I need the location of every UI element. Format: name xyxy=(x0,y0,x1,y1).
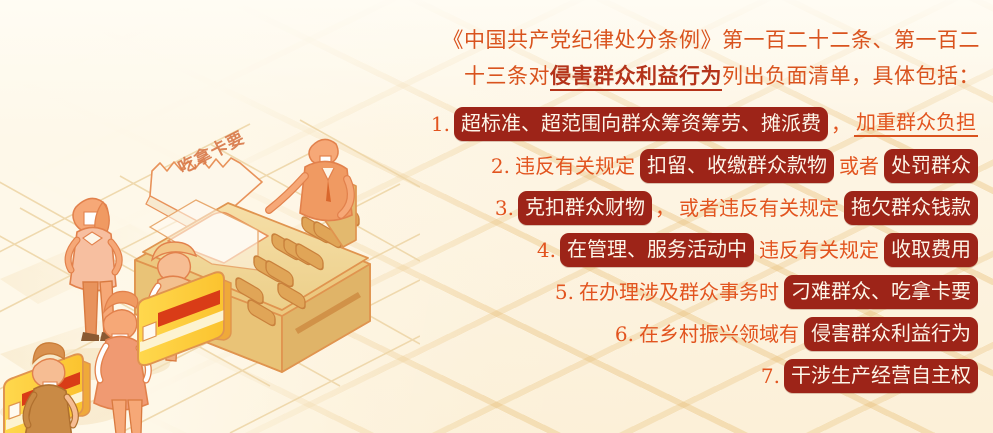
list-item-chip: 处罚群众 xyxy=(884,149,978,183)
list-item-text: 在办理涉及群众事务时 xyxy=(576,282,782,302)
list-item: 3. 克扣群众财物 ， 或者违反有关规定 拖欠群众钱款 xyxy=(400,187,980,229)
list-item-chip: 在管理、服务活动中 xyxy=(560,233,754,267)
list-item-chip: 刁难群众、吃拿卡要 xyxy=(784,275,978,309)
headline: 《中国共产党纪律处分条例》第一百二十二条、第一百二 十三条对侵害群众利益行为列出… xyxy=(400,22,980,94)
list-item-text: 或者 xyxy=(836,156,882,176)
violation-list: 1. 超标准、超范围向群众筹资筹劳、摊派费 ， 加重群众负担 2. 违反有关规定… xyxy=(400,103,980,397)
list-item-chip: 拖欠群众钱款 xyxy=(844,191,978,225)
list-item-index: 3. xyxy=(495,198,514,218)
list-item-index: 7. xyxy=(761,366,780,386)
list-item-index: 2. xyxy=(491,156,510,176)
list-item-index: 5. xyxy=(555,282,574,302)
list-item: 4. 在管理、服务活动中 违反有关规定 收取费用 xyxy=(400,229,980,271)
list-item-index: 4. xyxy=(537,240,556,260)
person-official xyxy=(269,139,352,220)
list-item: 6. 在乡村振兴领域有 侵害群众利益行为 xyxy=(400,313,980,355)
list-item: 2. 违反有关规定 扣留、收缴群众款物 或者 处罚群众 xyxy=(400,145,980,187)
list-item-punct: ， xyxy=(830,114,852,134)
list-item-chip: 干涉生产经营自主权 xyxy=(784,359,978,393)
list-item-underlined: 加重群众负担 xyxy=(854,112,978,137)
illustration-pos-scene: 吃拿卡要 xyxy=(0,64,420,433)
list-item-chip: 扣留、收缴群众款物 xyxy=(640,149,834,183)
list-item-text: 在乡村振兴领域有 xyxy=(636,324,802,344)
list-item-chip: 收取费用 xyxy=(884,233,978,267)
list-item: 7. 干涉生产经营自主权 xyxy=(400,355,980,397)
headline-emphasis: 侵害群众利益行为 xyxy=(550,63,722,91)
list-item-chip: 侵害群众利益行为 xyxy=(804,317,978,351)
list-item-text: 违反有关规定 xyxy=(512,156,638,176)
headline-line2-prefix: 十三条对 xyxy=(464,64,550,88)
list-item-text: 或者违反有关规定 xyxy=(676,198,842,218)
list-item-chip: 超标准、超范围向群众筹资筹劳、摊派费 xyxy=(454,107,828,141)
list-item-index: 6. xyxy=(615,324,634,344)
headline-line-1: 《中国共产党纪律处分条例》第一百二十二条、第一百二 xyxy=(400,22,980,58)
headline-line-2: 十三条对侵害群众利益行为列出负面清单，具体包括： xyxy=(400,58,980,94)
poster-canvas: 吃拿卡要 xyxy=(0,0,993,433)
list-item-text: 违反有关规定 xyxy=(756,240,882,260)
list-item-punct: ， xyxy=(654,198,676,218)
list-item: 1. 超标准、超范围向群众筹资筹劳、摊派费 ， 加重群众负担 xyxy=(400,103,980,145)
list-item-chip: 克扣群众财物 xyxy=(518,191,652,225)
headline-line1-text: 《中国共产党纪律处分条例》第一百二十二条、第一百二 xyxy=(443,28,981,52)
list-item-index: 1. xyxy=(431,114,450,134)
headline-line2-suffix: 列出负面清单，具体包括： xyxy=(722,64,980,88)
list-item: 5. 在办理涉及群众事务时 刁难群众、吃拿卡要 xyxy=(400,271,980,313)
text-column: 《中国共产党纪律处分条例》第一百二十二条、第一百二 十三条对侵害群众利益行为列出… xyxy=(400,22,980,397)
